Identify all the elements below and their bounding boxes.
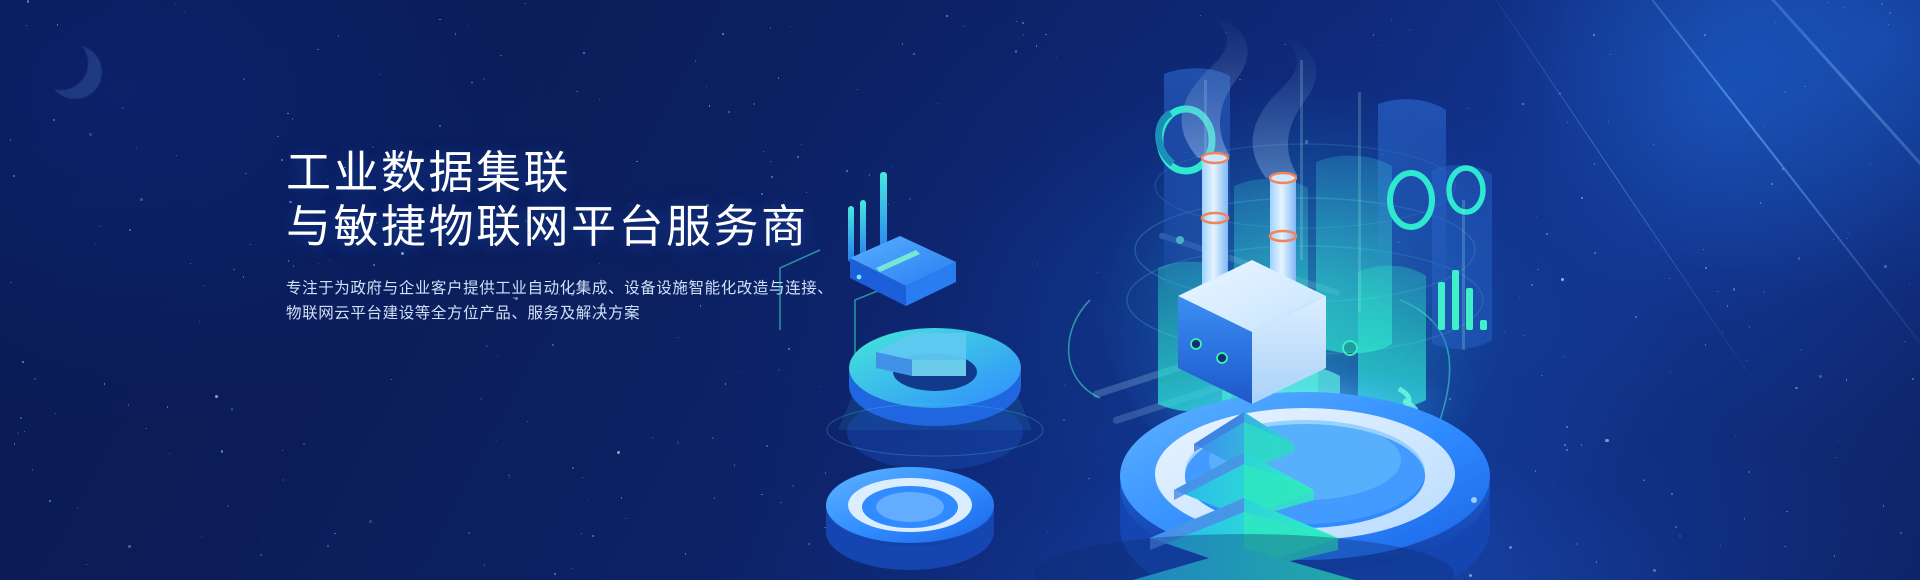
star-dot (94, 243, 95, 244)
star-dot (468, 25, 469, 26)
star-dot (554, 573, 555, 574)
star-dot (49, 500, 51, 502)
star-dot (621, 497, 622, 498)
star-dot (317, 49, 318, 50)
star-dot (480, 398, 482, 400)
star-dot (104, 383, 105, 384)
star-dot (303, 443, 305, 445)
star-dot (379, 74, 380, 75)
star-dot (471, 82, 472, 83)
star-dot (292, 118, 293, 119)
star-dot (287, 113, 288, 114)
star-dot (57, 24, 58, 25)
star-dot (695, 60, 696, 61)
star-dot (583, 52, 585, 54)
star-dot (722, 33, 723, 34)
star-dot (582, 477, 583, 478)
star-dot (176, 155, 177, 156)
star-dot (221, 450, 223, 452)
star-dot (706, 86, 707, 87)
star-dot (26, 25, 27, 26)
star-dot (302, 429, 303, 430)
star-dot (599, 99, 600, 100)
star-dot (22, 361, 23, 362)
star-dot (243, 276, 244, 277)
star-dot (635, 361, 636, 362)
small-ring-disc (826, 467, 994, 570)
star-dot (327, 545, 329, 547)
star-dot (552, 344, 553, 345)
star-dot (77, 508, 78, 509)
hero-banner: 工业数据集联 与敏捷物联网平台服务商 专注于为政府与企业客户提供工业自动化集成、… (0, 0, 1920, 580)
star-dot (581, 533, 582, 534)
star-dot (439, 19, 440, 20)
star-dot (334, 533, 335, 534)
star-dot (712, 437, 714, 439)
star-dot (233, 269, 234, 270)
star-dot (728, 111, 729, 112)
star-dot (128, 404, 129, 405)
star-dot (685, 553, 686, 554)
star-dot (128, 545, 131, 548)
star-dot (709, 105, 710, 106)
star-dot (277, 136, 278, 137)
star-dot (184, 11, 185, 12)
star-dot (753, 103, 755, 105)
star-dot (167, 406, 168, 407)
star-dot (34, 378, 36, 380)
hero-illustration (760, 0, 1920, 580)
star-dot (571, 568, 572, 569)
star-dot (20, 417, 22, 419)
star-dot (245, 173, 246, 174)
wifi-router-icon (848, 172, 956, 306)
star-dot (145, 428, 146, 429)
star-dot (592, 535, 594, 537)
star-dot (203, 285, 204, 286)
star-dot (587, 499, 588, 500)
star-dot (500, 55, 501, 56)
star-dot (468, 532, 470, 534)
star-dot (323, 538, 324, 539)
star-dot (87, 353, 88, 354)
star-dot (329, 484, 330, 485)
star-dot (227, 505, 228, 506)
star-dot (53, 119, 54, 120)
star-dot (497, 355, 498, 356)
star-dot (508, 475, 509, 476)
star-dot (338, 35, 339, 36)
crescent-moon-icon (34, 36, 88, 90)
star-dot (484, 564, 485, 565)
star-dot (17, 432, 19, 434)
star-dot (496, 440, 497, 441)
star-dot (741, 372, 742, 373)
star-dot (86, 564, 87, 565)
star-dot (439, 125, 440, 126)
star-dot (225, 65, 226, 66)
star-dot (524, 3, 525, 4)
star-dot (714, 497, 715, 498)
star-dot (231, 408, 233, 410)
star-dot (260, 554, 262, 556)
star-dot (274, 402, 275, 403)
star-dot (734, 464, 735, 465)
star-dot (10, 139, 11, 140)
star-dot (201, 536, 202, 537)
star-dot (401, 495, 402, 496)
star-dot (14, 443, 15, 444)
star-dot (10, 282, 11, 283)
star-dot (109, 72, 110, 73)
star-dot (725, 383, 726, 384)
star-dot (55, 413, 56, 414)
star-dot (13, 175, 15, 177)
star-dot (99, 226, 100, 227)
star-dot (261, 537, 262, 538)
star-dot (617, 451, 620, 454)
star-dot (369, 520, 372, 523)
star-dot (282, 450, 283, 451)
star-dot (169, 453, 170, 454)
star-dot (136, 147, 137, 148)
star-dot (455, 33, 456, 34)
star-dot (175, 3, 176, 4)
star-dot (576, 91, 577, 92)
star-dot (2, 220, 3, 221)
star-dot (677, 441, 679, 443)
star-dot (348, 134, 349, 135)
star-dot (27, 0, 29, 2)
star-dot (249, 244, 250, 245)
star-dot (32, 469, 33, 470)
star-dot (281, 159, 283, 161)
star-dot (129, 229, 131, 231)
star-dot (486, 345, 488, 347)
star-dot (483, 78, 485, 80)
star-dot (89, 133, 92, 136)
star-dot (121, 107, 123, 109)
star-dot (652, 437, 653, 438)
star-dot (677, 337, 678, 338)
star-dot (215, 395, 218, 398)
star-dot (337, 536, 338, 537)
star-dot (527, 421, 528, 422)
star-dot (391, 379, 392, 380)
storage-ring-cylinder (827, 328, 1043, 470)
star-dot (24, 431, 25, 432)
star-dot (509, 477, 510, 478)
star-dot (282, 479, 283, 480)
star-dot (625, 518, 626, 519)
star-dot (243, 78, 245, 80)
star-dot (572, 467, 574, 469)
star-dot (190, 263, 191, 264)
star-dot (140, 198, 143, 201)
star-dot (199, 321, 200, 322)
